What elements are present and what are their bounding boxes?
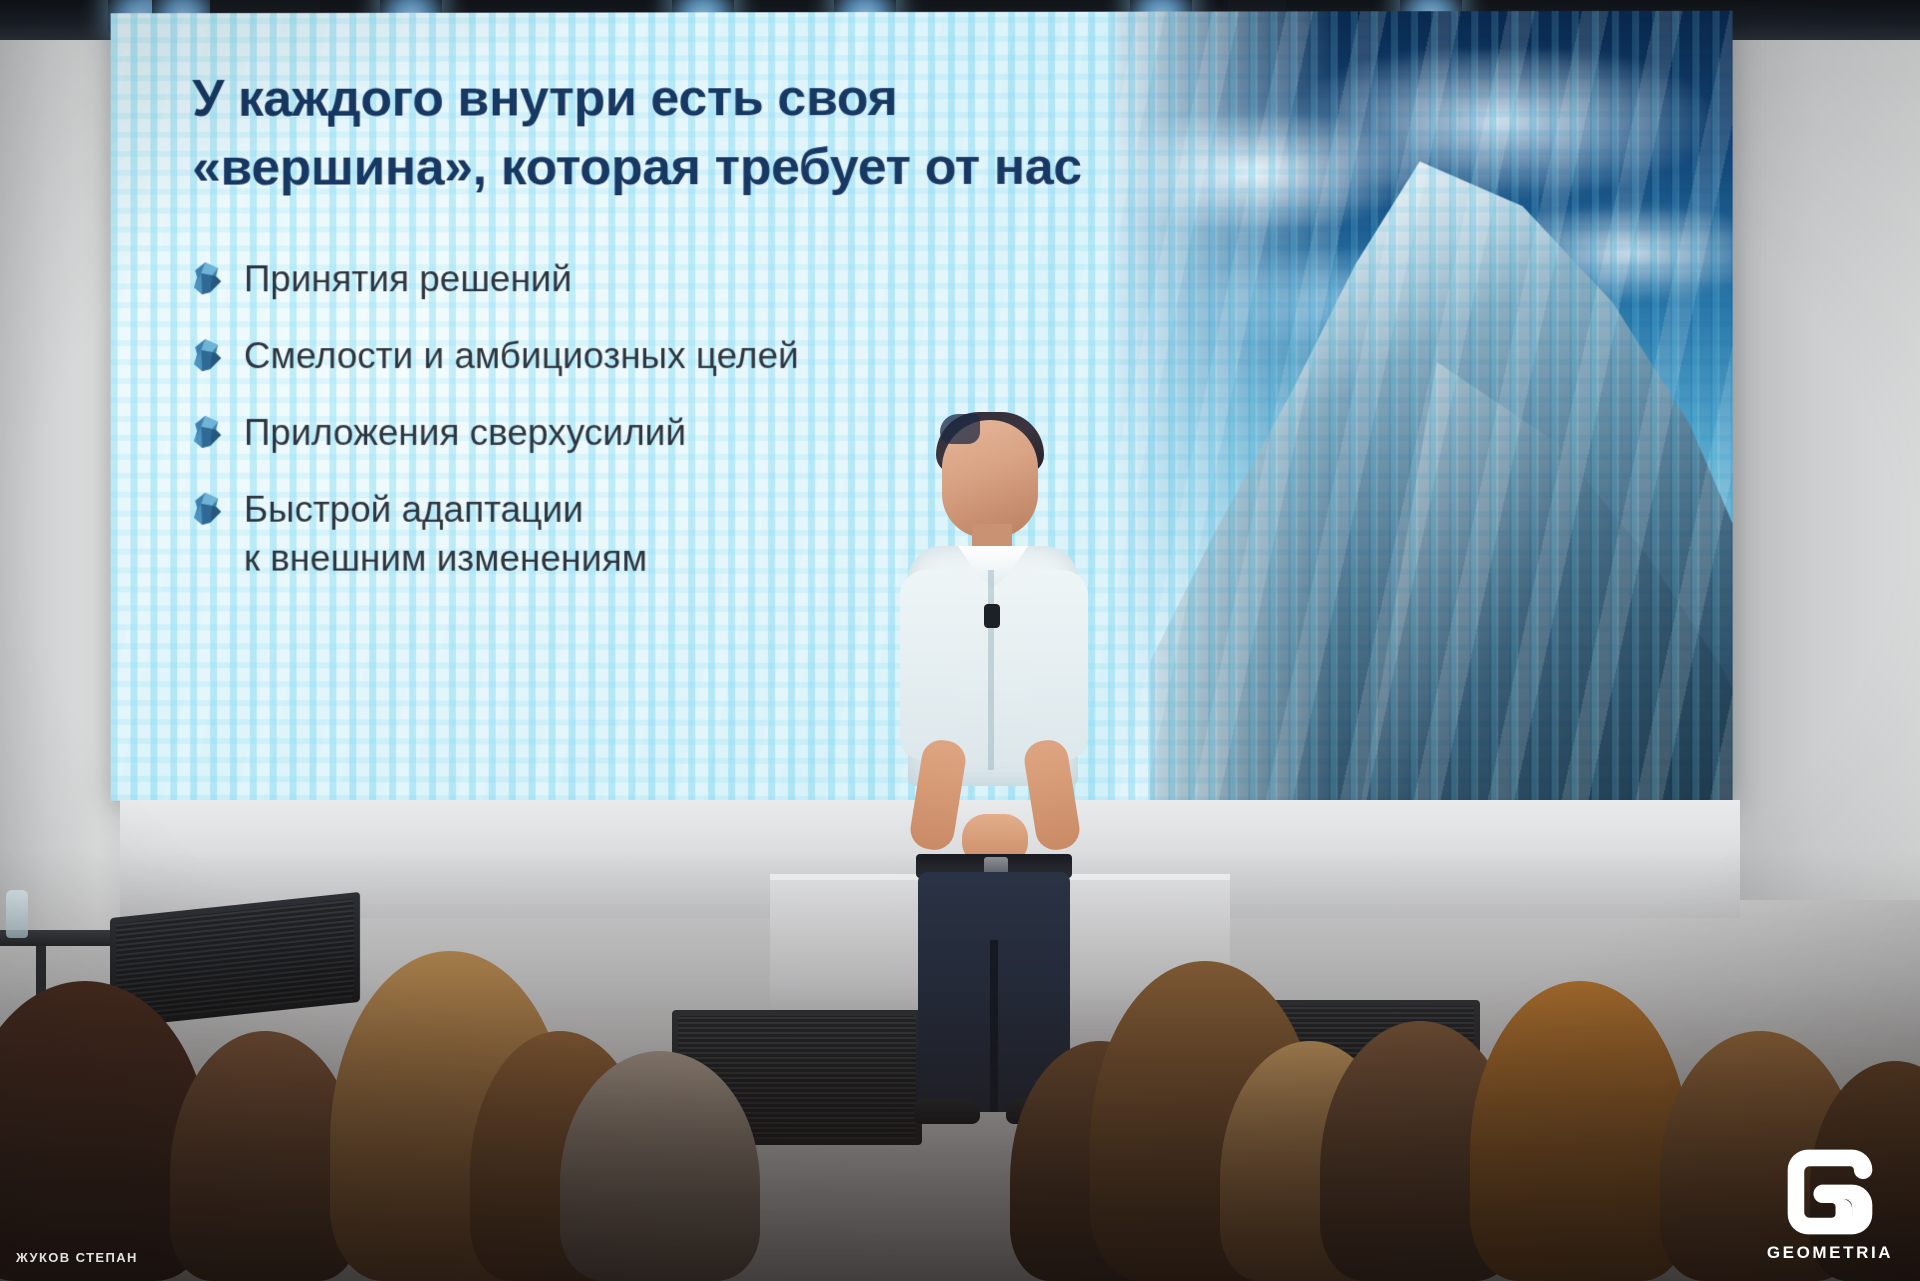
bullet-label: Быстрой адаптации к внешним изменениям bbox=[244, 486, 647, 584]
speaker-hair-highlight bbox=[940, 414, 980, 444]
speaker-sleeve-right bbox=[1030, 570, 1088, 760]
geometria-logo: GEOMETRIA bbox=[1766, 1146, 1894, 1263]
bullet-label: Приложения сверхусилий bbox=[244, 409, 686, 458]
wall-right bbox=[1730, 0, 1920, 900]
mountain-rock-icon bbox=[192, 338, 222, 372]
mountain-rock-icon bbox=[192, 415, 222, 449]
bullet-item-2: Смелости и амбициозных целей bbox=[192, 332, 1190, 381]
speaker-shirt-placket bbox=[988, 570, 994, 770]
conference-photo: У каждого внутри есть своя «вершина», ко… bbox=[0, 0, 1920, 1281]
bullet-item-1: Принятия решений bbox=[192, 255, 1190, 304]
mountain-rock-icon bbox=[192, 262, 222, 296]
speaker-microphone bbox=[984, 604, 1000, 628]
bullet-label: Принятия решений bbox=[244, 255, 572, 304]
slide-title: У каждого внутри есть своя «вершина», ко… bbox=[192, 64, 1190, 202]
photographer-credit: ЖУКОВ СТЕПАН bbox=[16, 1250, 138, 1265]
bullet-label: Смелости и амбициозных целей bbox=[244, 332, 799, 381]
speaker-sleeve-left bbox=[900, 570, 958, 760]
mountain-rock-icon bbox=[192, 491, 222, 525]
geometria-wordmark: GEOMETRIA bbox=[1766, 1243, 1894, 1263]
audience bbox=[0, 851, 1920, 1281]
audience-shadow-gradient bbox=[0, 851, 1920, 1281]
geometria-g-icon bbox=[1784, 1146, 1876, 1238]
